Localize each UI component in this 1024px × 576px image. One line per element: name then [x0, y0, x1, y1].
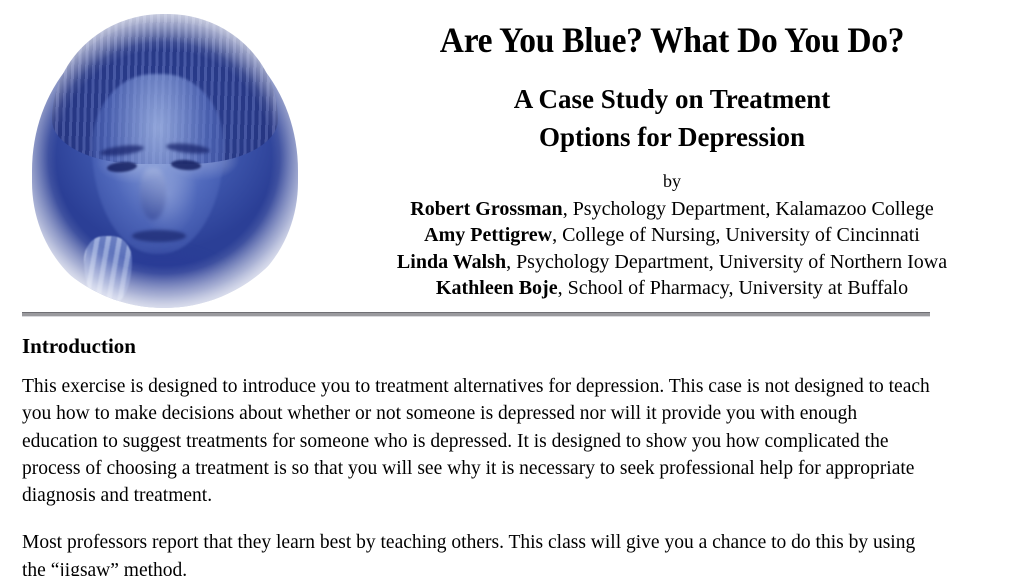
page-subtitle: A Case Study on Treatment Options for De…: [322, 60, 1022, 157]
author-name: Robert Grossman: [410, 198, 562, 220]
subtitle-line-1: A Case Study on Treatment: [514, 84, 831, 114]
body-paragraph: Most professors report that they learn b…: [22, 529, 930, 576]
section-heading-introduction: Introduction: [22, 334, 930, 359]
author-line: Amy Pettigrew, College of Nursing, Unive…: [322, 222, 1022, 249]
author-affiliation: , Psychology Department, Kalamazoo Colle…: [563, 198, 934, 220]
author-affiliation: , College of Nursing, University of Cinc…: [552, 224, 920, 246]
author-line: Kathleen Boje, School of Pharmacy, Unive…: [322, 275, 1022, 302]
document-body: Introduction This exercise is designed t…: [22, 334, 930, 576]
author-name: Kathleen Boje: [436, 277, 558, 299]
portrait-photo: [14, 8, 314, 308]
document-header: Are You Blue? What Do You Do? A Case Stu…: [0, 0, 1024, 300]
author-affiliation: , Psychology Department, University of N…: [506, 251, 947, 273]
author-list: Robert Grossman, Psychology Department, …: [322, 192, 1022, 302]
portrait-outer-fade: [0, 0, 338, 332]
author-name: Amy Pettigrew: [424, 224, 552, 246]
author-name: Linda Walsh: [397, 251, 506, 273]
byline-label: by: [322, 156, 1022, 191]
title-block: Are You Blue? What Do You Do? A Case Stu…: [322, 0, 1022, 302]
author-affiliation: , School of Pharmacy, University at Buff…: [558, 277, 909, 299]
page-title: Are You Blue? What Do You Do?: [347, 0, 998, 60]
body-paragraph: This exercise is designed to introduce y…: [22, 373, 930, 509]
header-divider: [22, 312, 930, 317]
document-page: Are You Blue? What Do You Do? A Case Stu…: [0, 0, 1024, 576]
subtitle-line-2: Options for Depression: [539, 122, 805, 152]
author-line: Linda Walsh, Psychology Department, Univ…: [322, 249, 1022, 276]
author-line: Robert Grossman, Psychology Department, …: [322, 196, 1022, 223]
